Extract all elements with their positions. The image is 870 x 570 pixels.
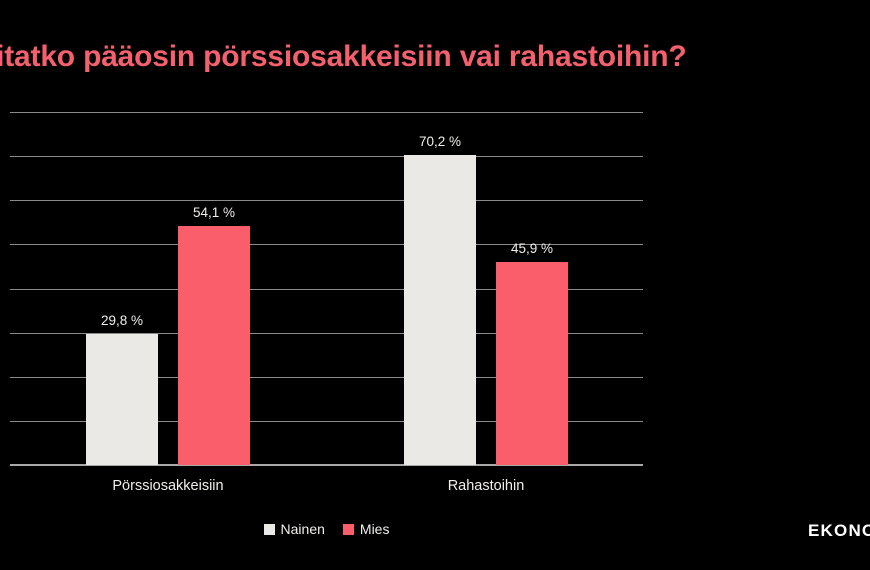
bar-value-label: 29,8 %: [86, 313, 158, 328]
bar-rahastoihin-mies[interactable]: [496, 262, 568, 465]
legend-item-mies[interactable]: Mies: [343, 521, 390, 537]
bar-rahastoihin-nainen[interactable]: [404, 155, 476, 465]
legend-swatch-icon: [343, 524, 354, 535]
gridline: [10, 156, 643, 157]
category-label: Pörssiosakkeisiin: [86, 478, 250, 494]
bar-pörssiosakkeisiin-nainen[interactable]: [86, 334, 158, 465]
legend-item-nainen[interactable]: Nainen: [264, 521, 325, 537]
gridline: [10, 112, 643, 113]
brand-logo: EKONOMIT: [808, 521, 870, 541]
bar-value-label: 70,2 %: [404, 134, 476, 149]
plot-area: [10, 112, 643, 465]
bar-value-label: 45,9 %: [496, 241, 568, 256]
bar-value-label: 54,1 %: [178, 205, 250, 220]
legend-label: Mies: [360, 521, 390, 537]
chart-legend: NainenMies: [0, 521, 653, 537]
gridline: [10, 200, 643, 201]
bar-pörssiosakkeisiin-mies[interactable]: [178, 226, 250, 465]
category-label: Rahastoihin: [404, 478, 568, 494]
chart-slide: oitatko pääosin pörssiosakkeisiin vai ra…: [0, 0, 870, 570]
legend-swatch-icon: [264, 524, 275, 535]
page-title: oitatko pääosin pörssiosakkeisiin vai ra…: [0, 36, 808, 78]
legend-label: Nainen: [281, 521, 325, 537]
